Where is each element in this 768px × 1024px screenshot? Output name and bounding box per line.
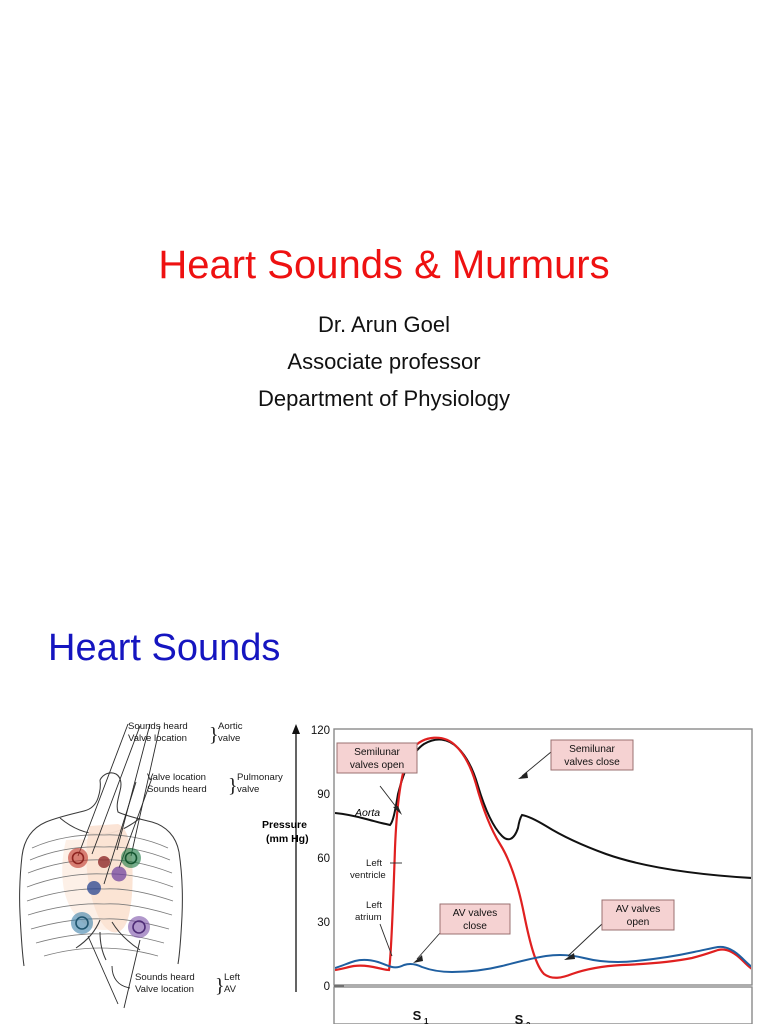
- ytick-0: 0: [324, 981, 330, 993]
- slide-canvas: Heart Sounds & Murmurs Dr. Arun Goel Ass…: [0, 0, 768, 1024]
- curve-label-aorta: Aorta: [354, 807, 380, 819]
- torso-outline: [20, 773, 183, 966]
- callout-av-open-line2: open: [627, 917, 650, 928]
- curve-label-lv-line2: ventricle: [350, 870, 386, 881]
- callout-av-close-line1: AV valves: [453, 908, 498, 919]
- title-block: Heart Sounds & Murmurs Dr. Arun Goel Ass…: [0, 238, 768, 417]
- heart-sound-panel-frame: [334, 987, 752, 1024]
- tricuspid-area-marker: [112, 867, 127, 882]
- aortic-sounds-heard: Sounds heard: [128, 721, 188, 732]
- annotation-pulmonary-valve: Valve location Sounds heard } Pulmonary …: [147, 772, 283, 797]
- y-axis-title: Pressure: [262, 819, 307, 831]
- y-axis-units: (mm Hg): [266, 833, 309, 845]
- ytick-30: 30: [317, 917, 330, 929]
- y-axis-arrow: [292, 724, 300, 992]
- curve-label-la-line2: atrium: [355, 912, 382, 923]
- ytick-120: 120: [311, 725, 330, 737]
- left-sternal-border-marker: [87, 881, 101, 895]
- page-title: Heart Sounds & Murmurs: [0, 238, 768, 292]
- s1-subscript: 1: [424, 1017, 429, 1024]
- curve-label-lv-line1: Left: [366, 858, 382, 869]
- subtitle-line-department: Department of Physiology: [0, 380, 768, 417]
- subtitle-line-position: Associate professor: [0, 343, 768, 380]
- aortic-area-marker: [68, 848, 88, 868]
- pulmonary-sounds-heard: Sounds heard: [147, 784, 207, 795]
- annotation-left-av: Sounds heard Valve location } Left AV: [135, 972, 240, 997]
- curve-label-la-line1: Left: [366, 900, 382, 911]
- callout-av-close-line2: close: [463, 921, 487, 932]
- leftav-label-line1: Left: [224, 972, 240, 983]
- mitral-apex-marker: [71, 912, 93, 934]
- aortic-label-line2: valve: [218, 733, 240, 744]
- lower-left-marker: [128, 916, 150, 938]
- pulmonary-valve-location: Valve location: [147, 772, 206, 783]
- leftav-sounds-heard: Sounds heard: [135, 972, 195, 983]
- pulmonary-label-line1: Pulmonary: [237, 772, 283, 783]
- aortic-label-line1: Aortic: [218, 721, 243, 732]
- aortic-valve-location: Valve location: [128, 733, 187, 744]
- callout-sl-open-line1: Semilunar: [354, 747, 400, 758]
- callout-sl-close-line2: valves close: [564, 757, 620, 768]
- figure-heart-sounds: Sounds heard Valve location } Aortic val…: [0, 708, 768, 1024]
- section-heading: Heart Sounds: [48, 622, 280, 674]
- leftav-label-line2: AV: [224, 984, 237, 995]
- pulmonary-label-line2: valve: [237, 784, 259, 795]
- ytick-90: 90: [317, 789, 330, 801]
- subtitle-line-author: Dr. Arun Goel: [0, 306, 768, 343]
- callout-sl-open-line2: valves open: [350, 760, 404, 771]
- ytick-60: 60: [317, 853, 330, 865]
- erbs-point-marker: [98, 856, 110, 868]
- callout-sl-close-line1: Semilunar: [569, 744, 615, 755]
- callout-av-open-line1: AV valves: [616, 904, 661, 915]
- annotation-aortic-valve: Sounds heard Valve location } Aortic val…: [128, 721, 243, 746]
- subtitle-block: Dr. Arun Goel Associate professor Depart…: [0, 306, 768, 417]
- s2-label: S: [515, 1012, 524, 1024]
- leftav-valve-location: Valve location: [135, 984, 194, 995]
- s1-label: S: [413, 1008, 422, 1023]
- pulmonic-area-marker: [121, 848, 141, 868]
